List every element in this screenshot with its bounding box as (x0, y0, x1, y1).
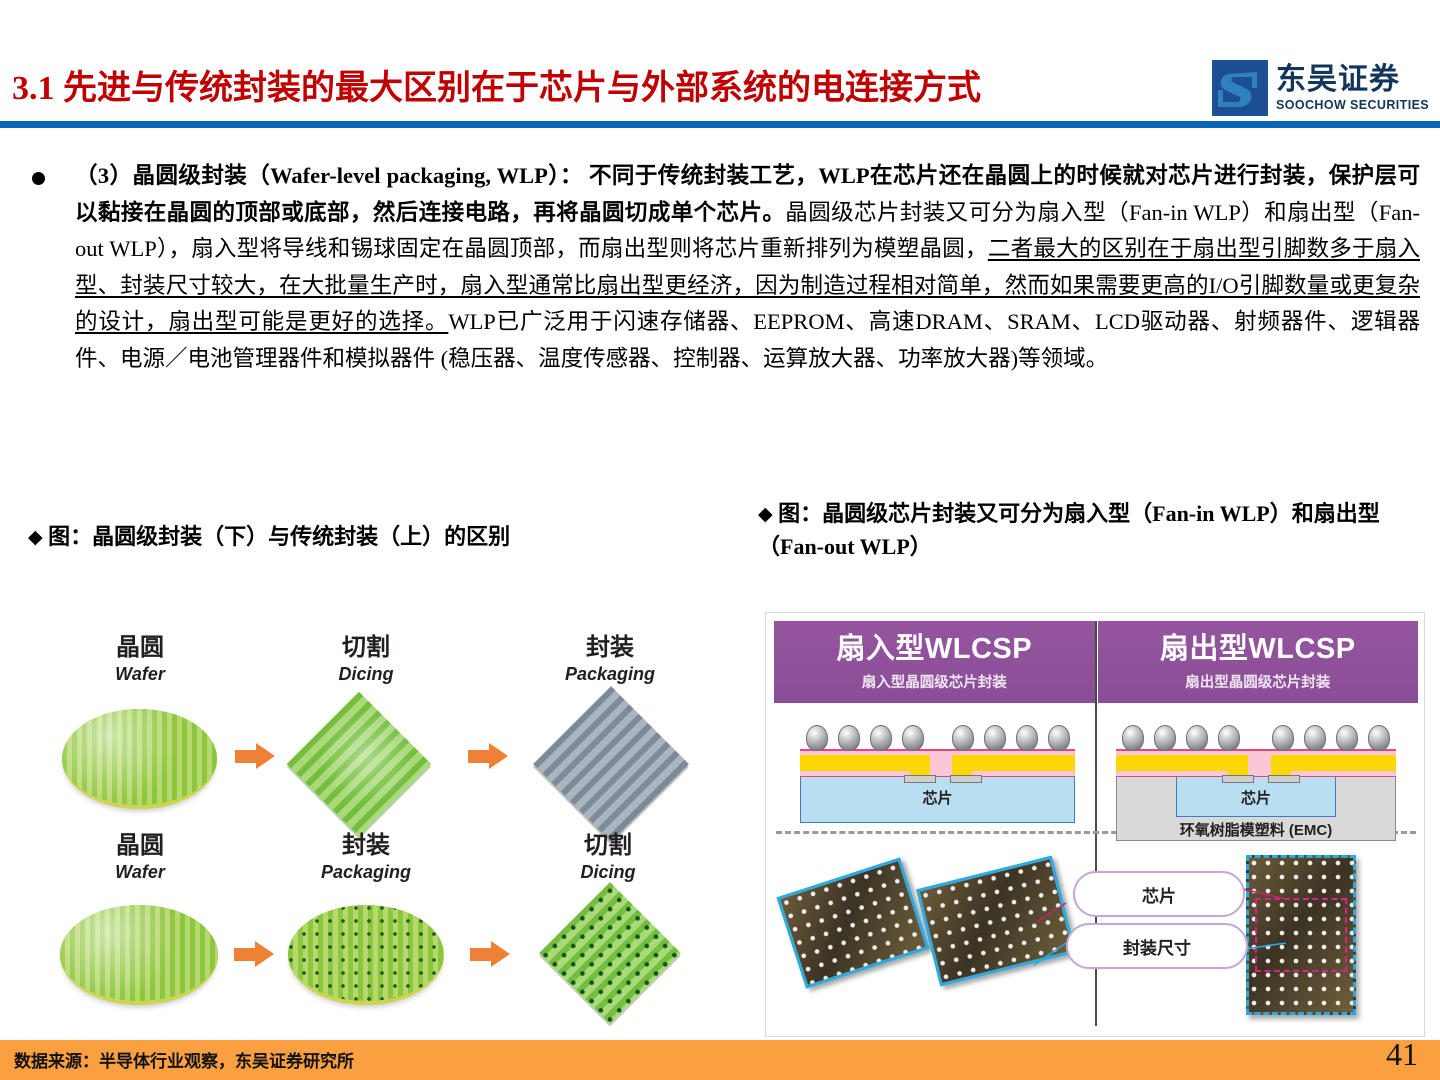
solder-ball-icon (902, 725, 924, 751)
packaged-dies-top (533, 686, 689, 842)
packaged-wafer-bot (288, 905, 444, 1005)
solder-ball-icon (1122, 725, 1144, 751)
stage-en: Wafer (40, 664, 240, 685)
xsection-fanin: 芯片 (800, 731, 1075, 823)
solder-ball-icon (1154, 725, 1176, 751)
caption-right-text: 图：晶圆级芯片封装又可分为扇入型（Fan-in WLP）和扇出型（Fan-out… (758, 501, 1380, 559)
wafer-shape-bot (60, 905, 218, 1005)
flow-wlp: 晶圆 Wafer 封装 Packaging 切割 Dicing (20, 823, 750, 1033)
stage-en: Dicing (266, 664, 466, 685)
logo-text: 东吴证券 SOOCHOW SECURITIES (1276, 65, 1429, 112)
fanin-pad-left (904, 775, 936, 783)
solder-ball-icon (1016, 725, 1038, 751)
solder-ball-icon (1186, 725, 1208, 751)
panel-header-fanin: 扇入型WLCSP 扇入型晶圆级芯片封装 (774, 621, 1095, 703)
stage-label-top-2: 切割 Dicing (266, 635, 466, 685)
fanout-rdl-left-via (1228, 755, 1248, 777)
panel-subtitle: 扇入型晶圆级芯片封装 (862, 671, 1007, 692)
diced-packaged-dies-bot (539, 882, 680, 1023)
main-bullet-block: （3）晶圆级封装（Wafer-level packaging, WLP）： 不同… (20, 158, 1420, 377)
chip-photo-fanin-2 (916, 856, 1076, 987)
fanin-pad-right (950, 775, 982, 783)
solder-ball-icon (984, 725, 1006, 751)
solder-ball-icon (1368, 725, 1390, 751)
stage-cn: 晶圆 (40, 635, 240, 661)
stage-en: Packaging (266, 862, 466, 883)
caption-diamond-icon: ◆ (758, 504, 773, 525)
stage-label-bot-1: 晶圆 Wafer (40, 833, 240, 883)
fanin-rdl-left (800, 755, 920, 771)
header-divider-rule (0, 121, 1440, 128)
panel-subtitle: 扇出型晶圆级芯片封装 (1185, 671, 1330, 692)
callout-package-size: 封装尺寸 (1066, 923, 1248, 969)
wafer-shape-top (62, 709, 217, 809)
logo-chinese-name: 东吴证券 (1276, 65, 1429, 95)
stage-label-top-1: 晶圆 Wafer (40, 635, 240, 685)
solder-ball-icon (952, 725, 974, 751)
soochow-logo-mark-icon (1212, 60, 1268, 116)
company-logo: 东吴证券 SOOCHOW SECURITIES (1212, 58, 1430, 118)
panel-header-fanout: 扇出型WLCSP 扇出型晶圆级芯片封装 (1098, 621, 1419, 703)
stage-cn: 封装 (266, 833, 466, 859)
solder-ball-icon (1048, 725, 1070, 751)
fanout-die-label: 芯片 (1176, 787, 1336, 808)
fanin-rdl-right-via (952, 755, 972, 777)
fanout-emc-label: 环氧树脂模塑料 (EMC) (1116, 819, 1396, 840)
solder-ball-icon (870, 725, 892, 751)
flow-traditional: 晶圆 Wafer 切割 Dicing 封装 Packaging (20, 613, 750, 823)
flow-arrow-icon (235, 743, 275, 769)
fanout-rdl-right-via (1271, 755, 1291, 777)
fanout-pad-right (1268, 775, 1300, 783)
panel-title: 扇出型WLCSP (1160, 633, 1356, 665)
figure-fanin-vs-fanout: 扇入型WLCSP 扇入型晶圆级芯片封装 扇出型WLCSP 扇出型晶圆级芯片封装 … (765, 612, 1425, 1037)
panel-title: 扇入型WLCSP (836, 633, 1032, 665)
flow-arrow-icon (234, 941, 274, 967)
fanin-rdl-left-via (910, 755, 930, 777)
stage-en: Wafer (40, 862, 240, 883)
stage-cn: 晶圆 (40, 833, 240, 859)
stage-en: Dicing (508, 862, 708, 883)
solder-ball-icon (1218, 725, 1240, 751)
solder-ball-icon (806, 725, 828, 751)
callout-die: 芯片 (1073, 871, 1245, 917)
stage-en: Packaging (510, 664, 710, 685)
fanout-pad-left (1222, 775, 1254, 783)
solder-ball-icon (1336, 725, 1358, 751)
solder-ball-icon (1272, 725, 1294, 751)
page-title: 3.1 先进与传统封装的最大区别在于芯片与外部系统的电连接方式 (12, 60, 981, 109)
page-number: 41 (1386, 1036, 1418, 1073)
caption-diamond-icon: ◆ (28, 527, 43, 548)
body-paragraph: （3）晶圆级封装（Wafer-level packaging, WLP）： 不同… (20, 158, 1420, 377)
diced-dies-top (287, 692, 431, 836)
stage-cn: 切割 (266, 635, 466, 661)
flow-arrow-icon (470, 941, 510, 967)
stage-label-top-3: 封装 Packaging (510, 635, 710, 685)
logo-english-name: SOOCHOW SECURITIES (1276, 99, 1429, 112)
solder-ball-icon (838, 725, 860, 751)
fanout-rdl-left (1116, 755, 1238, 771)
figure-traditional-vs-wlp: 晶圆 Wafer 切割 Dicing 封装 Packaging 晶圆 Wafer (20, 605, 750, 1035)
solder-ball-icon (1304, 725, 1326, 751)
figure-caption-right: ◆ 图：晶圆级芯片封装又可分为扇入型（Fan-in WLP）和扇出型（Fan-o… (758, 498, 1423, 563)
fanin-die-label: 芯片 (800, 787, 1075, 808)
flow-arrow-icon (468, 743, 508, 769)
stage-label-bot-2: 封装 Packaging (266, 833, 466, 883)
para-seg-0: （3）晶圆级封装（Wafer-level packaging, WLP）： (75, 163, 583, 188)
footer-source-text: 数据来源：半导体行业观察，东吴证券研究所 (14, 1047, 354, 1072)
stage-cn: 切割 (508, 833, 708, 859)
stage-cn: 封装 (510, 635, 710, 661)
caption-left-text: 图：晶圆级封装（下）与传统封装（上）的区别 (48, 524, 510, 549)
chip-photo-fanout (1246, 855, 1356, 1015)
chip-photo-fanin-1 (776, 857, 929, 988)
page-header: 3.1 先进与传统封装的最大区别在于芯片与外部系统的电连接方式 东吴证券 SOO… (0, 0, 1440, 128)
figure-caption-left: ◆ 图：晶圆级封装（下）与传统封装（上）的区别 (28, 521, 718, 554)
stage-label-bot-3: 切割 Dicing (508, 833, 708, 883)
bullet-dot-icon (32, 172, 45, 185)
xsection-fanout: 芯片 环氧树脂模塑料 (EMC) (1116, 731, 1396, 841)
